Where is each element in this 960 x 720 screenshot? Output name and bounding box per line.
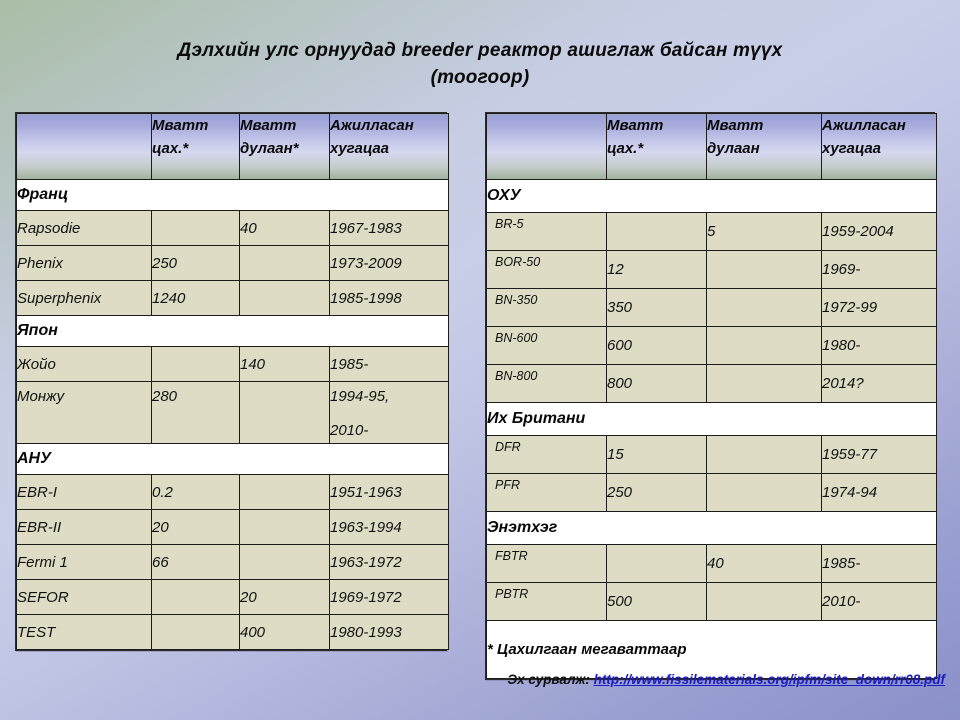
reactor-name: SEFOR — [17, 580, 152, 615]
table-row: TEST 400 1980-1993 — [17, 615, 449, 650]
reactor-mwt — [240, 281, 330, 316]
country-label: Их Британи — [487, 403, 937, 436]
reactor-period: 1951-1963 — [330, 475, 449, 510]
reactor-mwe: 280 — [152, 382, 240, 444]
page-title-line-1: Дэлхийн улс орнуудад breeder реактор аши… — [178, 40, 783, 61]
country-row-france: Франц — [17, 180, 449, 211]
reactor-name: TEST — [17, 615, 152, 650]
reactor-mwe: 600 — [607, 327, 707, 365]
country-label: Энэтхэг — [487, 512, 937, 545]
table-row: Phenix 250 1973-2009 — [17, 246, 449, 281]
reactor-mwt: 40 — [707, 545, 822, 583]
reactor-mwt: 5 — [707, 213, 822, 251]
source-label: Эх сурвалж: — [507, 672, 590, 687]
reactor-period: 2014? — [822, 365, 937, 403]
left-header-mwe-line1: Мватт — [152, 117, 208, 134]
reactor-name: Phenix — [17, 246, 152, 281]
reactor-period: 1973-2009 — [330, 246, 449, 281]
left-table-header-row: Мватт цах.* Мватт дулаан* Ажилласан хуга… — [17, 114, 449, 180]
country-row-india: Энэтхэг — [487, 512, 937, 545]
table-row: EBR-I 0.2 1951-1963 — [17, 475, 449, 510]
right-header-mwt: Мватт дулаан — [707, 114, 822, 180]
reactor-name: PBTR — [487, 583, 607, 621]
right-header-mwt-line1: Мватт — [707, 117, 763, 134]
reactor-mwt — [240, 545, 330, 580]
reactor-period: 1985-1998 — [330, 281, 449, 316]
reactor-name: PFR — [487, 474, 607, 512]
reactor-period: 1969- — [822, 251, 937, 289]
right-header-mwe: Мватт цах.* — [607, 114, 707, 180]
footnote-row: * Цахилгаан мегаваттаар — [487, 621, 937, 679]
table-row: BR-5 5 1959-2004 — [487, 213, 937, 251]
reactor-name: FBTR — [487, 545, 607, 583]
reactor-period: 1959-77 — [822, 436, 937, 474]
footnote-label: * Цахилгаан мегаваттаар — [487, 621, 937, 679]
left-header-name-cell — [17, 114, 152, 180]
country-row-uk: Их Британи — [487, 403, 937, 436]
table-row: BN-350 350 1972-99 — [487, 289, 937, 327]
reactor-mwt: 20 — [240, 580, 330, 615]
reactor-mwe: 0.2 — [152, 475, 240, 510]
page-title-line-2: (тоогоор) — [431, 67, 530, 88]
reactor-mwt — [240, 246, 330, 281]
left-header-period: Ажилласан хугацаа — [330, 114, 449, 180]
left-reactor-table: Мватт цах.* Мватт дулаан* Ажилласан хуга… — [15, 112, 447, 651]
reactor-name: BOR-50 — [487, 251, 607, 289]
reactor-mwt: 400 — [240, 615, 330, 650]
reactor-period-line2: 2010- — [330, 422, 368, 439]
page-title: Дэлхийн улс орнуудад breeder реактор аши… — [60, 38, 900, 92]
reactor-period: 1974-94 — [822, 474, 937, 512]
table-row: PFR 250 1974-94 — [487, 474, 937, 512]
reactor-period: 1963-1994 — [330, 510, 449, 545]
country-label: Япон — [17, 316, 449, 347]
reactor-mwt — [707, 251, 822, 289]
left-header-period-line2: хугацаа — [330, 140, 389, 157]
source-link[interactable]: http://www.fissilematerials.org/ipfm/sit… — [594, 672, 945, 687]
reactor-period: 1985- — [822, 545, 937, 583]
reactor-name: BN-600 — [487, 327, 607, 365]
reactor-name: EBR-II — [17, 510, 152, 545]
reactor-mwt — [707, 327, 822, 365]
reactor-mwe: 800 — [607, 365, 707, 403]
right-header-name-cell — [487, 114, 607, 180]
reactor-mwe: 12 — [607, 251, 707, 289]
reactor-mwt — [707, 365, 822, 403]
country-row-russia: ОХУ — [487, 180, 937, 213]
reactor-mwe — [152, 615, 240, 650]
reactor-mwt — [240, 475, 330, 510]
table-row: Монжу 280 1994-95, 2010- — [17, 382, 449, 444]
reactor-period: 1980-1993 — [330, 615, 449, 650]
reactor-mwe — [152, 211, 240, 246]
source-line: Эх сурвалж: http://www.fissilematerials.… — [0, 672, 945, 687]
reactor-period: 1980- — [822, 327, 937, 365]
table-row: BOR-50 12 1969- — [487, 251, 937, 289]
right-header-mwe-line2: цах.* — [607, 140, 643, 157]
reactor-mwt — [240, 510, 330, 545]
left-header-mwt: Мватт дулаан* — [240, 114, 330, 180]
table-row: EBR-II 20 1963-1994 — [17, 510, 449, 545]
table-row: SEFOR 20 1969-1972 — [17, 580, 449, 615]
reactor-mwe — [152, 347, 240, 382]
reactor-mwe — [607, 213, 707, 251]
reactor-mwe: 1240 — [152, 281, 240, 316]
reactor-mwe: 66 — [152, 545, 240, 580]
reactor-mwt: 140 — [240, 347, 330, 382]
right-header-mwt-line2: дулаан — [707, 140, 760, 157]
reactor-period: 2010- — [822, 583, 937, 621]
left-header-mwt-line2: дулаан* — [240, 140, 299, 157]
table-row: Жойо 140 1985- — [17, 347, 449, 382]
reactor-mwt: 40 — [240, 211, 330, 246]
reactor-name: BN-350 — [487, 289, 607, 327]
country-label: ОХУ — [487, 180, 937, 213]
reactor-name: Fermi 1 — [17, 545, 152, 580]
right-header-period: Ажилласан хугацаа — [822, 114, 937, 180]
left-header-mwt-line1: Мватт — [240, 117, 296, 134]
reactor-mwt — [707, 436, 822, 474]
reactor-mwt — [707, 583, 822, 621]
reactor-period: 1972-99 — [822, 289, 937, 327]
table-row: FBTR 40 1985- — [487, 545, 937, 583]
reactor-period: 1967-1983 — [330, 211, 449, 246]
reactor-mwe: 250 — [607, 474, 707, 512]
table-row: Superphenix 1240 1985-1998 — [17, 281, 449, 316]
reactor-name: Монжу — [17, 382, 152, 444]
country-row-usa: АНУ — [17, 444, 449, 475]
reactor-name: EBR-I — [17, 475, 152, 510]
reactor-mwe: 20 — [152, 510, 240, 545]
reactor-name: DFR — [487, 436, 607, 474]
reactor-mwt — [707, 289, 822, 327]
reactor-name: Rapsodie — [17, 211, 152, 246]
table-row: Fermi 1 66 1963-1972 — [17, 545, 449, 580]
table-row: BN-800 800 2014? — [487, 365, 937, 403]
reactor-name: BR-5 — [487, 213, 607, 251]
reactor-name: BN-800 — [487, 365, 607, 403]
table-row: DFR 15 1959-77 — [487, 436, 937, 474]
table-row: PBTR 500 2010- — [487, 583, 937, 621]
reactor-mwe: 350 — [607, 289, 707, 327]
reactor-mwe: 500 — [607, 583, 707, 621]
left-header-mwe-line2: цах.* — [152, 140, 188, 157]
reactor-period-line1: 1994-95, — [330, 388, 389, 405]
reactor-mwe: 15 — [607, 436, 707, 474]
right-header-period-line2: хугацаа — [822, 140, 881, 157]
table-row: BN-600 600 1980- — [487, 327, 937, 365]
reactor-mwt — [707, 474, 822, 512]
left-header-period-line1: Ажилласан — [330, 117, 414, 134]
table-row: Rapsodie 40 1967-1983 — [17, 211, 449, 246]
country-row-japan: Япон — [17, 316, 449, 347]
right-table-header-row: Мватт цах.* Мватт дулаан Ажилласан хугац… — [487, 114, 937, 180]
reactor-mwe: 250 — [152, 246, 240, 281]
country-label: АНУ — [17, 444, 449, 475]
reactor-period: 1959-2004 — [822, 213, 937, 251]
right-header-mwe-line1: Мватт — [607, 117, 663, 134]
reactor-name: Жойо — [17, 347, 152, 382]
right-reactor-table: Мватт цах.* Мватт дулаан Ажилласан хугац… — [485, 112, 935, 680]
left-header-mwe: Мватт цах.* — [152, 114, 240, 180]
reactor-period: 1994-95, 2010- — [330, 382, 449, 444]
reactor-mwt — [240, 382, 330, 444]
reactor-period: 1963-1972 — [330, 545, 449, 580]
reactor-name: Superphenix — [17, 281, 152, 316]
reactor-period: 1969-1972 — [330, 580, 449, 615]
reactor-period: 1985- — [330, 347, 449, 382]
reactor-mwe — [607, 545, 707, 583]
country-label: Франц — [17, 180, 449, 211]
reactor-mwe — [152, 580, 240, 615]
right-header-period-line1: Ажилласан — [822, 117, 906, 134]
